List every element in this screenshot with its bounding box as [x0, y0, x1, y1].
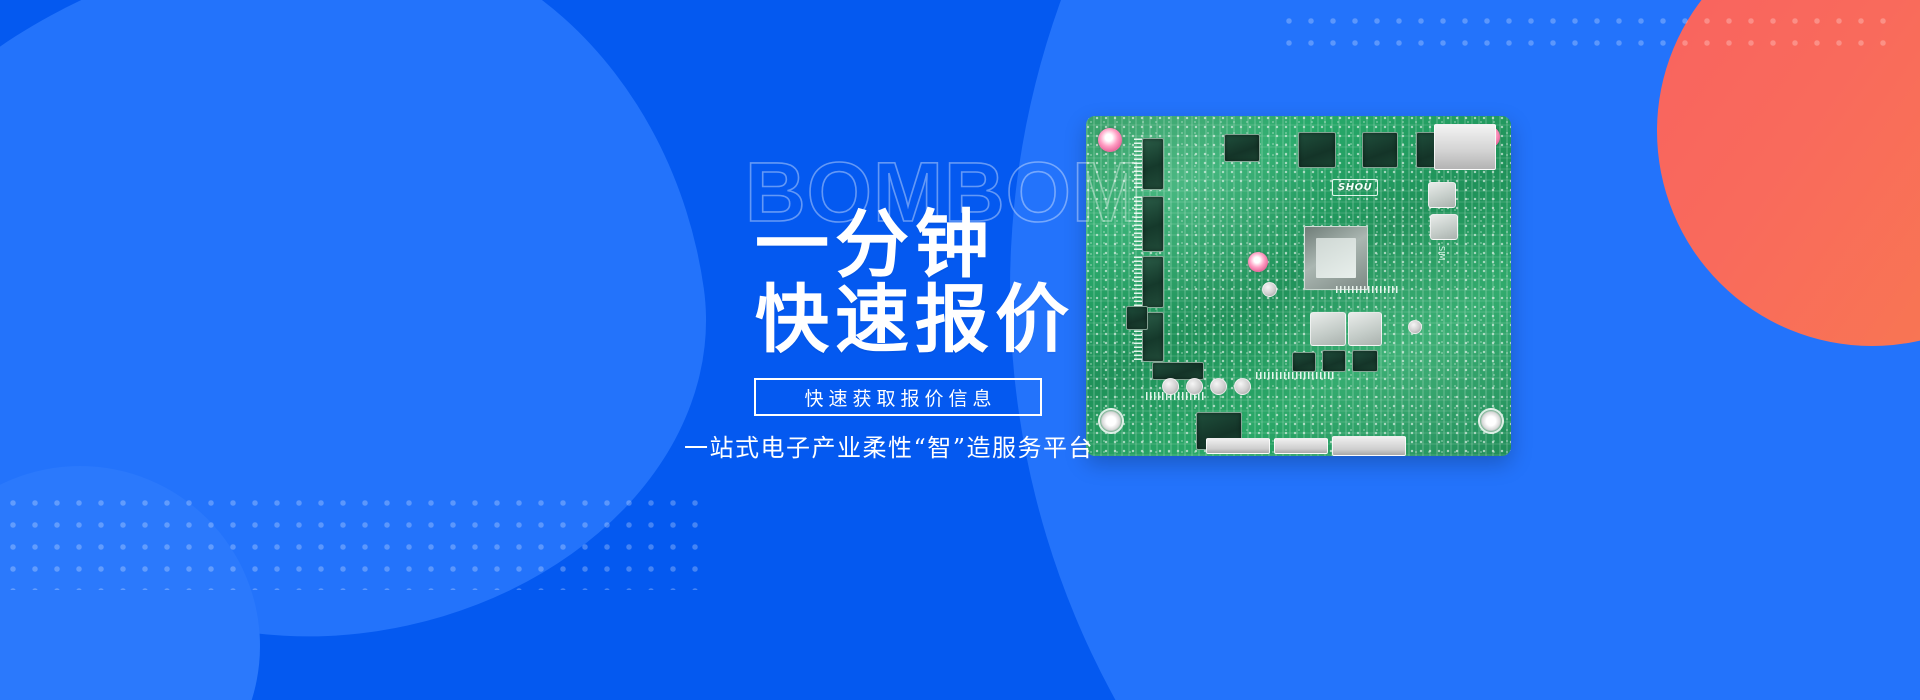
- get-quote-button[interactable]: 快速获取报价信息: [754, 378, 1042, 416]
- banner-text-block: BOMBOM 一分钟 快速报价 快速获取报价信息 一站式电子产业柔性“智”造服务…: [660, 150, 1360, 430]
- headline-line-2: 快速报价: [755, 283, 1075, 357]
- pcb-inductor-4: [1430, 214, 1458, 240]
- pcb-edge-connector-2: [1274, 438, 1328, 454]
- dot-grid-top-right: [1286, 18, 1898, 60]
- promo-banner: SHOU SIM BOMBOM 一分钟 快速报价 快速获取报价信息 一站式电子产…: [0, 0, 1920, 700]
- banner-subtitle: 一站式电子产业柔性“智”造服务平台: [684, 428, 1094, 463]
- pcb-round-cap-2: [1408, 320, 1422, 334]
- pcb-ic-top-3: [1362, 132, 1398, 168]
- pcb-mount-hole-br: [1478, 408, 1504, 434]
- pcb-sim-label: SIM: [1437, 246, 1446, 260]
- get-quote-button-label: 快速获取报价信息: [799, 384, 996, 411]
- pcb-inductor-3: [1428, 182, 1456, 208]
- pcb-sim-card-slot: [1434, 124, 1496, 170]
- pcb-edge-connector-1: [1206, 438, 1270, 454]
- headline-line-1: 一分钟: [755, 208, 995, 282]
- dot-grid-bottom-left: [10, 500, 710, 590]
- pcb-edge-connector-3: [1332, 436, 1406, 456]
